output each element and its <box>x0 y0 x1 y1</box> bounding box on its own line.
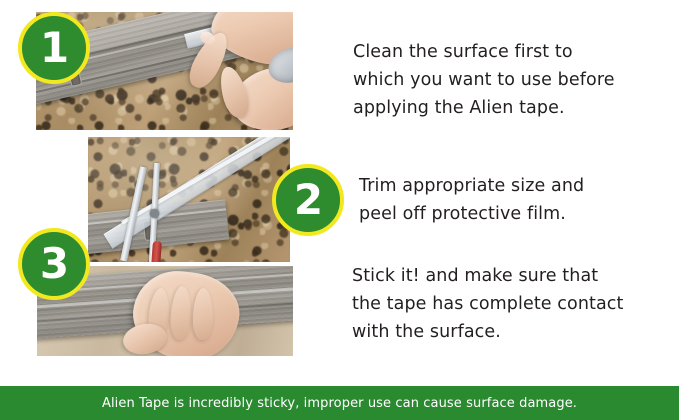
footer-warning-banner: Alien Tape is incredibly sticky, imprope… <box>0 386 679 420</box>
scissor-pivot <box>150 209 159 218</box>
step-2-photo <box>88 137 290 262</box>
step-3-instruction-text: Stick it! and make sure that the tape ha… <box>352 262 672 346</box>
step-1-number: 1 <box>40 27 68 69</box>
step-2-instruction-text: Trim appropriate size and peel off prote… <box>359 172 671 228</box>
step-2-number: 2 <box>294 179 322 221</box>
step-3-number: 3 <box>40 243 68 285</box>
step-3-number-badge: 3 <box>18 228 90 300</box>
scissor-handle <box>151 241 162 262</box>
footer-warning-text: Alien Tape is incredibly sticky, imprope… <box>102 396 577 411</box>
step-1-number-badge: 1 <box>18 12 90 84</box>
step-2-number-badge: 2 <box>272 164 344 236</box>
step-1-instruction-text: Clean the surface first to which you wan… <box>353 38 671 122</box>
alien-tape-instructions-poster: 1 2 3 Clean the surface first to which y… <box>0 0 679 420</box>
